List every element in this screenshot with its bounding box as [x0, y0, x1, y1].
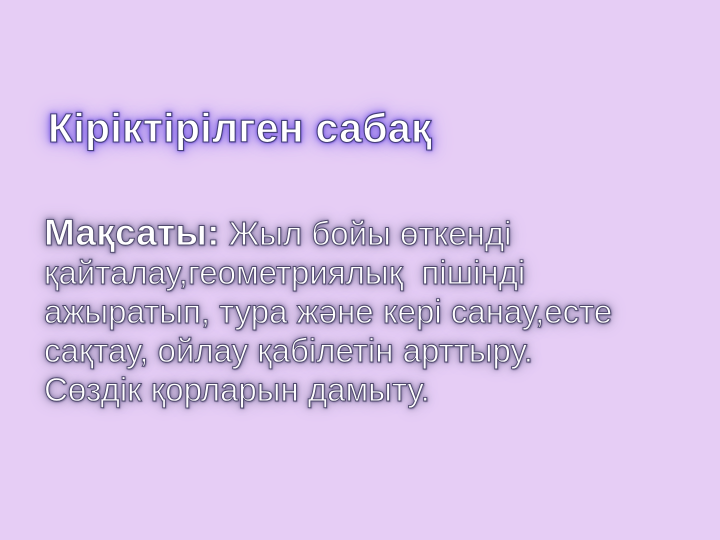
- body-line-3: ажыратып, тура және кері санау,есте: [44, 292, 704, 331]
- body-line-2: қайталау,геометриялық пішінді: [44, 253, 704, 292]
- body-line-5: Сөздік қорларын дамыту.: [44, 370, 704, 409]
- slide-title-placeholder[interactable]: Кіріктірілген сабақ: [48, 104, 688, 152]
- body-line-1-text: Жыл бойы өткенді: [220, 215, 512, 252]
- body-line-4: сақтау, ойлау қабілетін арттыру.: [44, 331, 704, 370]
- body-line-1: Мақсаты: Жыл бойы өткенді: [44, 213, 704, 253]
- slide-body-placeholder[interactable]: Мақсаты: Жыл бойы өткенді қайталау,геоме…: [44, 213, 704, 409]
- body-objective-label: Мақсаты:: [44, 212, 220, 253]
- presentation-slide: Кіріктірілген сабақ Мақсаты: Жыл бойы өт…: [0, 0, 720, 540]
- slide-title: Кіріктірілген сабақ: [48, 104, 688, 152]
